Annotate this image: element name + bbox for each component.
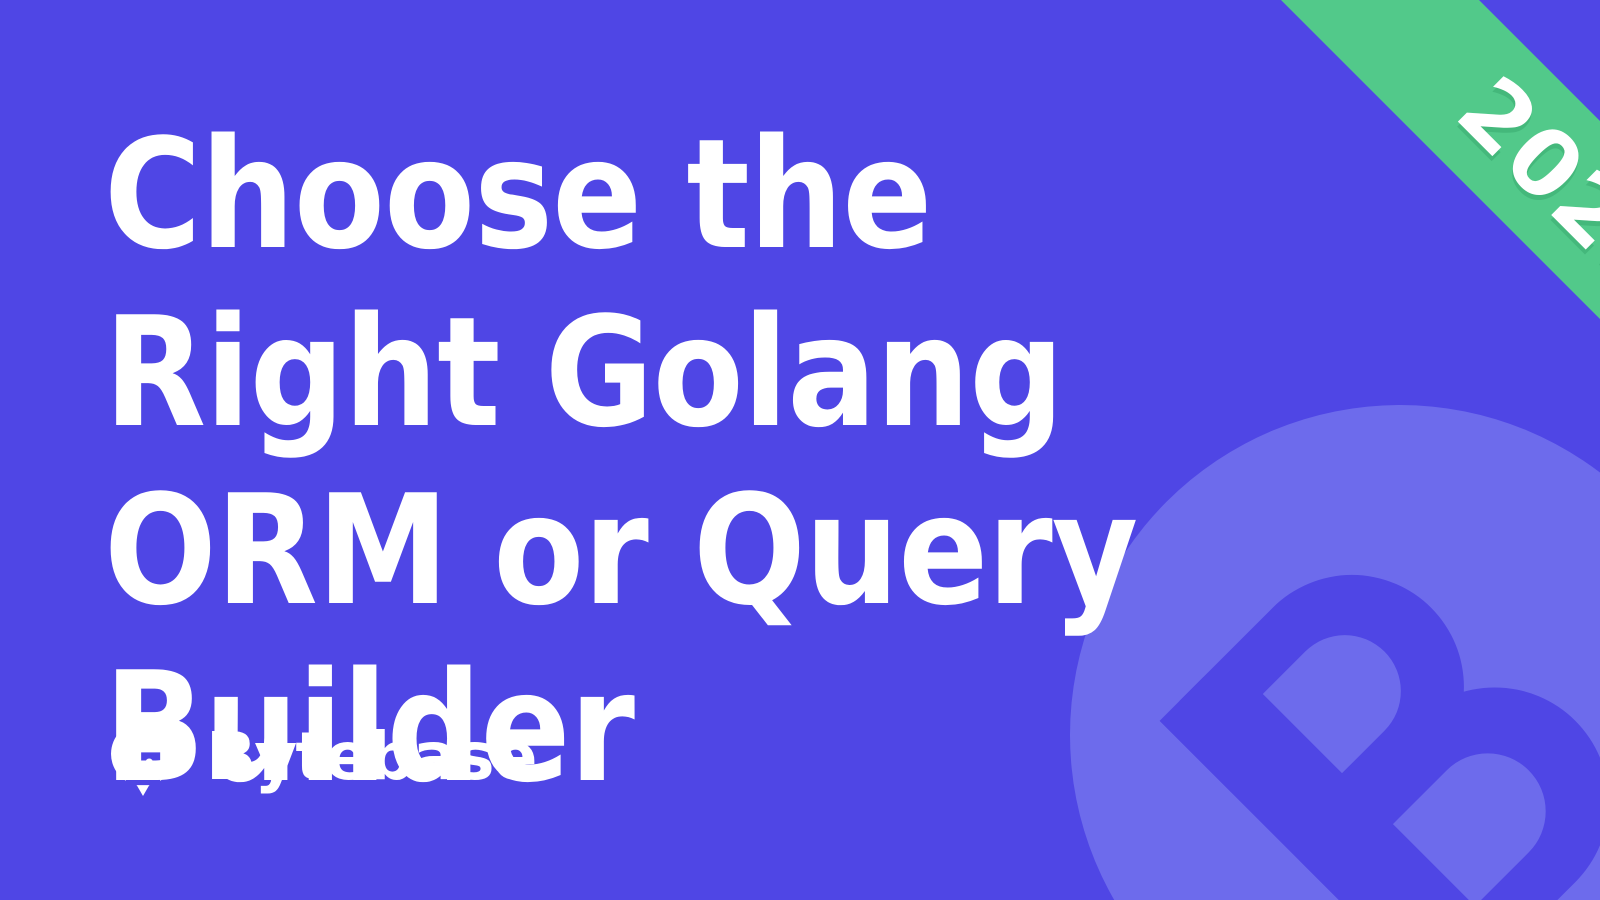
social-share-banner: 2025 Choose the Right Golang ORM or Quer… xyxy=(0,0,1600,900)
ribbon-band: 2025 xyxy=(1214,0,1600,530)
brand-name-label: Bytebase xyxy=(206,724,535,790)
ribbon-year-label: 2025 xyxy=(1442,62,1600,314)
bytebase-logo-icon xyxy=(104,718,182,796)
brand-lockup: Bytebase xyxy=(104,718,535,796)
page-title: Choose the Right Golang ORM or Query Bui… xyxy=(104,106,1249,817)
